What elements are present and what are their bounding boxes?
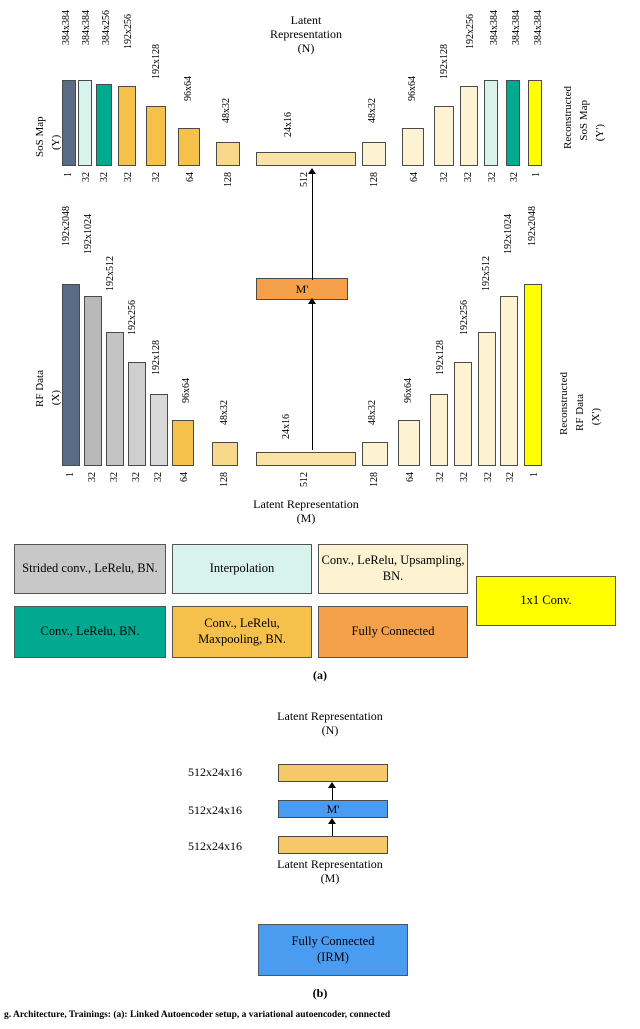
panel-b-arrow-head-upper xyxy=(328,782,336,788)
block-rf-enc-6 xyxy=(172,420,194,466)
top-input-label-line1: SoS Map xyxy=(34,117,46,158)
block-sos-dec-1 xyxy=(362,142,386,166)
legend-1x1-conv: 1x1 Conv. xyxy=(476,576,616,626)
legend-label-0: Strided conv., LeRelu, BN. xyxy=(22,561,158,577)
latent-m-line1: Latent Representation xyxy=(226,498,386,512)
legend-conv-upsampling: Conv., LeRelu, Upsampling, BN. xyxy=(318,544,468,594)
block-sos-enc-5 xyxy=(146,106,166,166)
block-sos-latent xyxy=(256,152,356,166)
panel-b-bottom-label: Latent Representation (M) xyxy=(230,858,430,886)
block-sos-enc-1 xyxy=(62,80,76,166)
block-rf-latent xyxy=(256,452,356,466)
top-output-line2: SoS Map xyxy=(578,100,590,141)
block-rf-enc-4 xyxy=(128,362,146,466)
latent-n-label-top: Latent Representation (N) xyxy=(236,14,376,55)
panel-b-size-1: 512x24x16 xyxy=(188,804,242,818)
legend-label-6: Fully Connected xyxy=(352,624,435,640)
arrow-line-upper xyxy=(312,172,313,280)
top-output-label: Reconstructed SoS Map (Y') xyxy=(560,86,630,196)
legend-label-5: Conv., LeRelu, Maxpooling, BN. xyxy=(175,616,309,647)
block-rf-dec-5 xyxy=(478,332,496,466)
block-sos-dec-7 xyxy=(528,80,542,166)
block-rf-dec-1 xyxy=(362,442,388,466)
block-rf-dec-6 xyxy=(500,296,518,466)
legend-strided-conv: Strided conv., LeRelu, BN. xyxy=(14,544,166,594)
panel-b-bottom-line2: (M) xyxy=(230,872,430,886)
bottom-input-line2: (X) xyxy=(50,390,62,405)
panel-b-size-2: 512x24x16 xyxy=(188,840,242,854)
block-sos-dec-2 xyxy=(402,128,424,166)
panel-b-arrow-line-upper xyxy=(332,786,333,800)
top-output-line1: Reconstructed xyxy=(562,86,574,149)
top-input-label-line2: (Y) xyxy=(50,134,62,149)
caption-a: (a) xyxy=(0,668,640,683)
panel-b-arrow-line-lower xyxy=(332,822,333,836)
legend-interpolation: Interpolation xyxy=(172,544,312,594)
latent-n-line2: Representation xyxy=(236,28,376,42)
block-sos-enc-3 xyxy=(96,84,112,166)
legend-fully-connected: Fully Connected xyxy=(318,606,468,658)
latent-m-label: Latent Representation (M) xyxy=(226,498,386,526)
legend-label-2: Conv., LeRelu, Upsampling, BN. xyxy=(321,553,465,584)
panel-b-m-prime-label: M' xyxy=(278,802,388,817)
bridge-label-m-prime: M' xyxy=(256,282,348,297)
block-rf-enc-1 xyxy=(62,284,80,466)
panel-b-top-line2: (N) xyxy=(230,724,430,738)
block-sos-enc-6 xyxy=(178,128,200,166)
block-sos-dec-4 xyxy=(460,86,478,166)
block-rf-enc-7 xyxy=(212,442,238,466)
caption-b: (b) xyxy=(0,986,640,1001)
panel-b-top-label: Latent Representation (N) xyxy=(230,710,430,738)
bottom-output-label: Reconstructed RF Data (X') xyxy=(556,372,630,492)
arrow-head-upper xyxy=(308,168,316,174)
panel-b-bottom-line1: Latent Representation xyxy=(230,858,430,872)
legend-label-4: Conv., LeRelu, BN. xyxy=(40,624,139,640)
latent-n-line1: Latent xyxy=(236,14,376,28)
bottom-output-line1: Reconstructed xyxy=(558,372,570,435)
legend-label-3: 1x1 Conv. xyxy=(520,593,571,609)
block-sos-dec-6 xyxy=(506,80,520,166)
block-sos-enc-4 xyxy=(118,86,136,166)
block-rf-dec-7 xyxy=(524,284,542,466)
block-rf-enc-2 xyxy=(84,296,102,466)
panel-b-fc-box: Fully Connected (IRM) xyxy=(258,924,408,976)
figure-footer: g. Architecture, Trainings: (a): Linked … xyxy=(4,1010,640,1020)
bottom-input-line1: RF Data xyxy=(34,370,46,407)
bottom-output-line2: RF Data xyxy=(574,394,586,431)
panel-b-size-0: 512x24x16 xyxy=(188,766,242,780)
legend-conv-maxpool: Conv., LeRelu, Maxpooling, BN. xyxy=(172,606,312,658)
block-rf-dec-3 xyxy=(430,394,448,466)
block-rf-dec-4 xyxy=(454,362,472,466)
arrow-line-lower xyxy=(312,302,313,450)
panel-b-slab-2 xyxy=(278,836,388,854)
panel-b-slab-0 xyxy=(278,764,388,782)
block-sos-dec-5 xyxy=(484,80,498,166)
block-rf-enc-3 xyxy=(106,332,124,466)
panel-b-top-line1: Latent Representation xyxy=(230,710,430,724)
latent-m-line2: (M) xyxy=(226,512,386,526)
latent-n-line3: (N) xyxy=(236,42,376,56)
bottom-output-line3: (X') xyxy=(590,408,602,425)
legend-label-1: Interpolation xyxy=(210,561,275,577)
arrow-head-lower xyxy=(308,298,316,304)
figure-root: SoS Map (Y) Latent Representation (N) Re… xyxy=(0,0,640,1029)
block-sos-enc-2 xyxy=(78,80,92,166)
top-output-line3: (Y') xyxy=(594,124,606,141)
panel-b-arrow-head-lower xyxy=(328,818,336,824)
panel-b-fc-line2: (IRM) xyxy=(317,950,349,966)
legend-conv-bn: Conv., LeRelu, BN. xyxy=(14,606,166,658)
block-sos-dec-3 xyxy=(434,106,454,166)
block-rf-enc-5 xyxy=(150,394,168,466)
block-sos-enc-7 xyxy=(216,142,240,166)
block-rf-dec-2 xyxy=(398,420,420,466)
panel-b-fc-line1: Fully Connected xyxy=(292,934,375,950)
